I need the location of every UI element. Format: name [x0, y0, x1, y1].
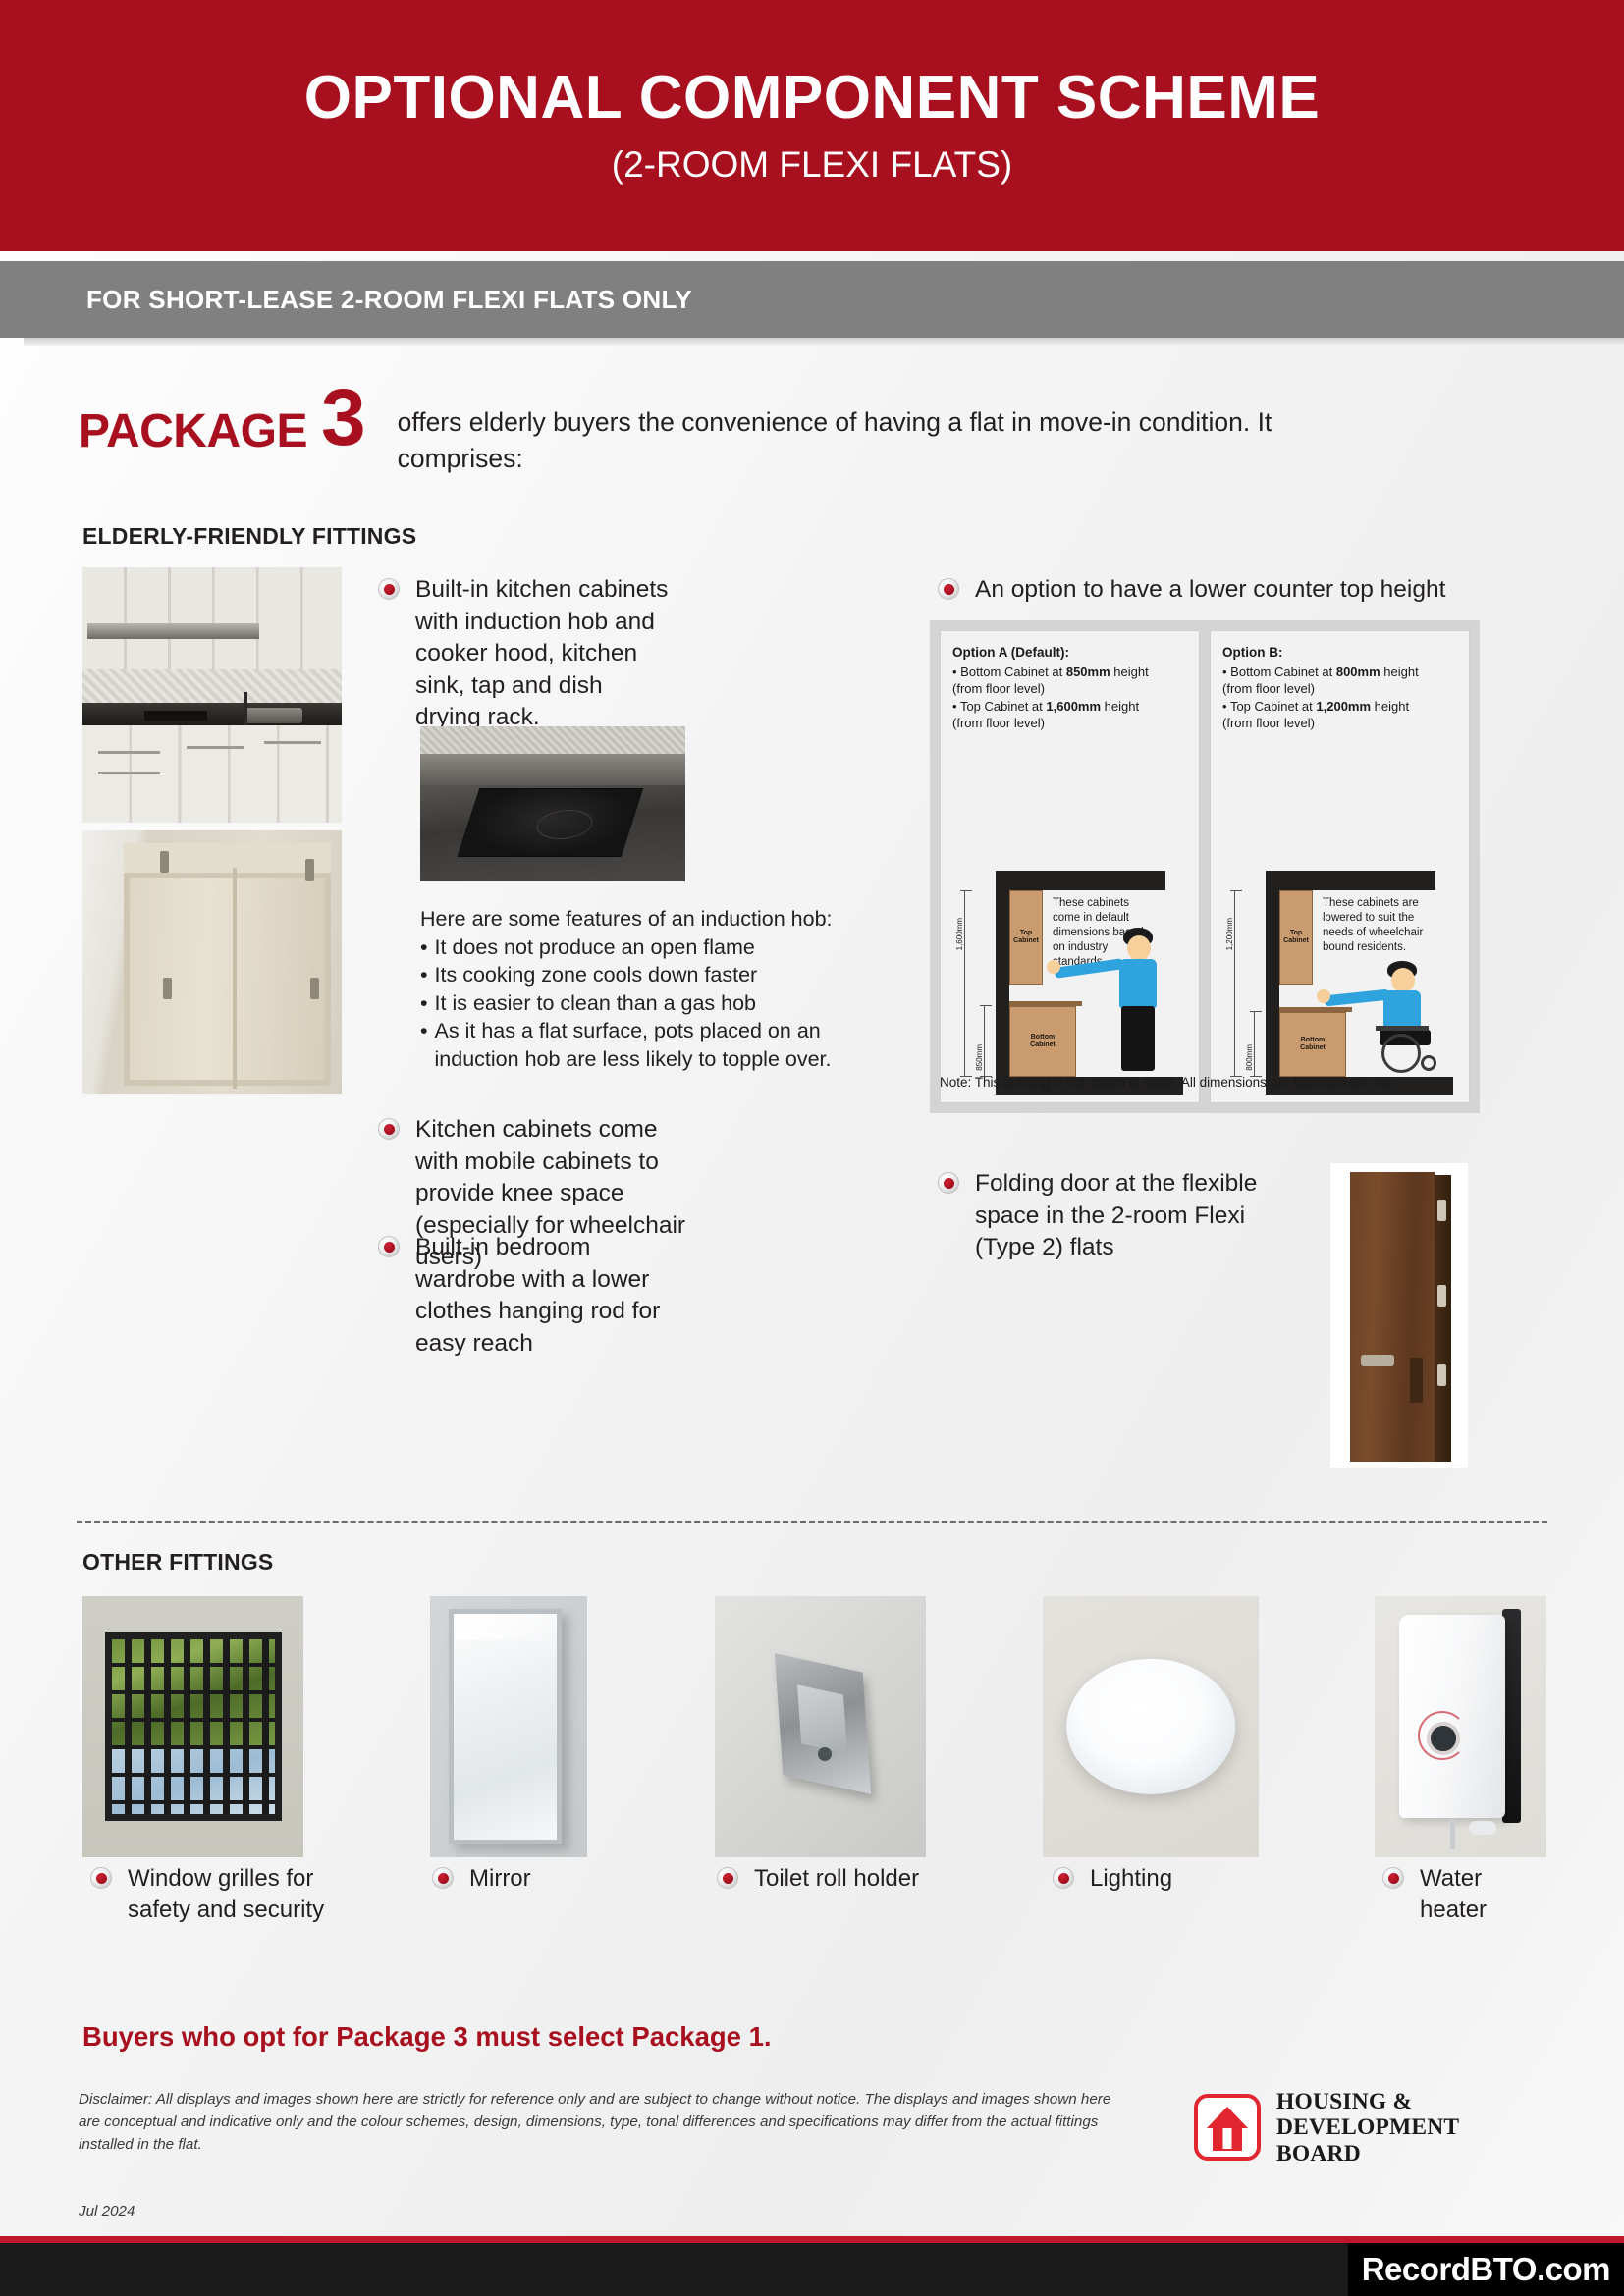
hdb-logo-line-1: HOUSING & — [1276, 2089, 1459, 2114]
other-fitting-label: Mirror — [469, 1863, 531, 1895]
other-fitting-label: Water heater — [1420, 1863, 1510, 1926]
bullet-kitchen-cabinets-label: Built-in kitchen cabinets with induction… — [415, 574, 673, 734]
option-b-panel: Option B: • Bottom Cabinet at 800mm heig… — [1210, 630, 1470, 1103]
bullet-dot-icon — [378, 1118, 400, 1140]
eligibility-banner-text: FOR SHORT-LEASE 2-ROOM FLEXI FLATS ONLY — [86, 285, 692, 315]
page-subtitle: (2-ROOM FLEXI FLATS) — [612, 144, 1012, 186]
disclaimer-text: Disclaimer: All displays and images show… — [79, 2088, 1119, 2156]
footer-red-bar — [0, 2236, 1624, 2243]
package-description: offers elderly buyers the convenience of… — [398, 404, 1281, 476]
option-b-item-2: • Top Cabinet at 1,200mm height (from fl… — [1222, 698, 1457, 732]
option-b-heading: Option B: — [1222, 645, 1457, 660]
watermark: RecordBTO.com — [1348, 2243, 1624, 2296]
package-number: 3 — [321, 385, 366, 451]
bullet-counter-top-height: An option to have a lower counter top he… — [938, 574, 1488, 607]
option-b-item-1: • Bottom Cabinet at 800mm height (from f… — [1222, 664, 1457, 698]
option-b-bottom-cabinet: BottomCabinet — [1279, 1012, 1346, 1077]
option-a-panel: Option A (Default): • Bottom Cabinet at … — [940, 630, 1200, 1103]
bullet-folding-door: Folding door at the flexible space in th… — [938, 1168, 1262, 1264]
option-a-item-1: • Bottom Cabinet at 850mm height (from f… — [952, 664, 1187, 698]
hdb-house-arrow-icon — [1194, 2094, 1261, 2161]
mirror-photo — [430, 1596, 587, 1857]
bullet-dot-icon — [432, 1867, 454, 1889]
option-a-bottom-cabinet: BottomCabinet — [1009, 1006, 1076, 1077]
section-divider — [77, 1521, 1547, 1523]
hob-feature-item: Its cooking zone cools down faster — [435, 961, 758, 989]
option-a-standing-person-icon — [1098, 928, 1176, 1077]
hdb-logo-line-2: DEVELOPMENT — [1276, 2114, 1459, 2140]
option-b-dim-bottom: 800mm — [1245, 1044, 1254, 1071]
other-fittings-title: OTHER FITTINGS — [82, 1549, 273, 1575]
publication-date: Jul 2024 — [79, 2203, 135, 2219]
package-headline: PACKAGE 3 offers elderly buyers the conv… — [79, 391, 1281, 476]
water-heater-photo — [1375, 1596, 1546, 1857]
counter-height-options-diagram: Option A (Default): • Bottom Cabinet at … — [930, 620, 1480, 1113]
bullet-dot-icon — [1053, 1867, 1074, 1889]
lighting-photo — [1043, 1596, 1259, 1857]
other-fitting-mirror: Mirror — [432, 1863, 648, 1895]
elderly-fittings-title: ELDERLY-FRIENDLY FITTINGS — [82, 523, 416, 550]
other-fitting-water-heater: Water heater — [1382, 1863, 1510, 1926]
hob-feature-item: It is easier to clean than a gas hob — [435, 989, 757, 1018]
hdb-logo-text: HOUSING & DEVELOPMENT BOARD — [1276, 2089, 1459, 2166]
option-a-heading: Option A (Default): — [952, 645, 1187, 660]
poster-page: OPTIONAL COMPONENT SCHEME (2-ROOM FLEXI … — [0, 0, 1624, 2296]
option-b-dim-top: 1,200mm — [1225, 918, 1234, 950]
hob-feature-item: As it has a flat surface, pots placed on… — [435, 1017, 862, 1073]
header-banner: OPTIONAL COMPONENT SCHEME (2-ROOM FLEXI … — [0, 0, 1624, 251]
bullet-dot-icon — [717, 1867, 738, 1889]
kitchen-cabinets-photo — [82, 567, 342, 823]
bullet-dot-icon — [90, 1867, 112, 1889]
other-fitting-label: Window grilles for safety and security — [128, 1863, 346, 1926]
eligibility-banner: FOR SHORT-LEASE 2-ROOM FLEXI FLATS ONLY — [0, 261, 1624, 338]
hob-features-intro: Here are some features of an induction h… — [420, 905, 862, 934]
option-b-scene-note: These cabinets are lowered to suit the n… — [1323, 896, 1433, 955]
option-a-scene: TopCabinet BottomCabinet These cabinets … — [950, 867, 1193, 1095]
option-b-wheelchair-person-icon — [1364, 961, 1458, 1077]
hdb-logo-line-3: BOARD — [1276, 2141, 1459, 2166]
package-requirement-note: Buyers who opt for Package 3 must select… — [82, 2021, 772, 2053]
package-word: PACKAGE — [79, 408, 307, 455]
option-a-top-cabinet: TopCabinet — [1009, 890, 1043, 985]
page-title: OPTIONAL COMPONENT SCHEME — [304, 66, 1320, 130]
bedroom-wardrobe-photo — [82, 830, 342, 1094]
banner-shadow — [24, 338, 1624, 346]
bullet-counter-top-height-label: An option to have a lower counter top he… — [975, 574, 1445, 607]
bullet-dot-icon — [378, 1236, 400, 1257]
toilet-roll-holder-photo — [715, 1596, 926, 1857]
option-a-item-2: • Top Cabinet at 1,600mm height (from fl… — [952, 698, 1187, 732]
hob-features-block: Here are some features of an induction h… — [420, 905, 862, 1074]
option-b-scene: TopCabinet BottomCabinet These cabinets … — [1220, 867, 1463, 1095]
window-grilles-photo — [82, 1596, 303, 1857]
other-fitting-lighting: Lighting — [1053, 1863, 1249, 1895]
bullet-kitchen-cabinets: Built-in kitchen cabinets with induction… — [378, 574, 673, 734]
bullet-bedroom-wardrobe: Built-in bedroom wardrobe with a lower c… — [378, 1232, 682, 1360]
bullet-dot-icon — [378, 578, 400, 600]
option-a-dim-bottom: 850mm — [975, 1044, 984, 1071]
bullet-dot-icon — [1382, 1867, 1404, 1889]
bullet-dot-icon — [938, 1172, 959, 1194]
diagram-note: Note: This drawing is not drawn to scale… — [940, 1074, 1470, 1092]
other-fitting-label: Lighting — [1090, 1863, 1172, 1895]
bullet-bedroom-wardrobe-label: Built-in bedroom wardrobe with a lower c… — [415, 1232, 682, 1360]
hdb-logo: HOUSING & DEVELOPMENT BOARD — [1194, 2089, 1459, 2166]
bullet-dot-icon — [938, 578, 959, 600]
option-b-top-cabinet: TopCabinet — [1279, 890, 1313, 985]
other-fitting-window-grilles: Window grilles for safety and security — [90, 1863, 346, 1926]
induction-hob-photo — [420, 726, 685, 881]
hob-feature-item: It does not produce an open flame — [435, 934, 755, 962]
other-fitting-label: Toilet roll holder — [754, 1863, 919, 1895]
other-fitting-toilet-roll-holder: Toilet roll holder — [717, 1863, 972, 1895]
option-a-dim-top: 1,600mm — [955, 918, 964, 950]
bullet-folding-door-label: Folding door at the flexible space in th… — [975, 1168, 1262, 1264]
folding-door-photo — [1330, 1163, 1468, 1468]
